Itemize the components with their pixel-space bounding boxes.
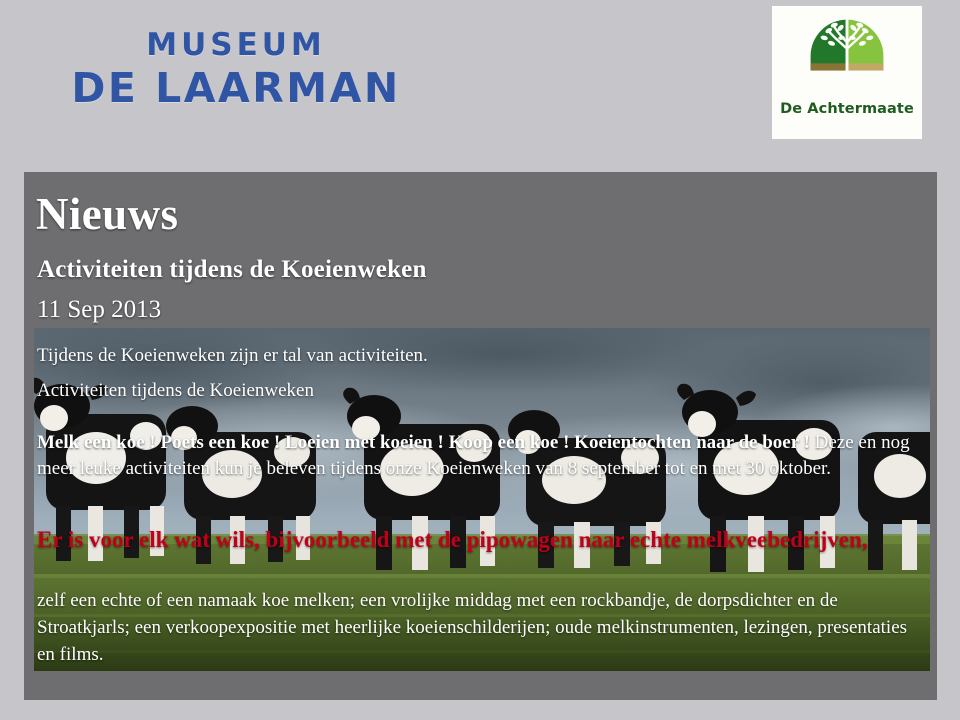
highlight-paragraph: Er is voor elk wat wils, bijvoorbeeld me…	[37, 523, 897, 557]
activities-bold-text: Melk een koe ! Poets een koe ! Loeien me…	[37, 432, 810, 453]
partner-logo-label: De Achtermaate	[780, 101, 914, 117]
partner-logo-box: De Achtermaate	[772, 6, 922, 139]
details-paragraph: zelf een echte of een namaak koe melken;…	[37, 587, 921, 668]
news-text-layer: Nieuws Activiteiten tijdens de Koeienwek…	[24, 172, 937, 700]
news-section-heading: Activiteiten tijdens de Koeienweken	[37, 380, 314, 402]
museum-logo-line-2: DE LAARMAN	[36, 68, 436, 109]
news-panel: Nieuws Activiteiten tijdens de Koeienwek…	[24, 172, 937, 700]
news-intro-line: Tijdens de Koeienweken zijn er tal van a…	[37, 345, 428, 367]
page-header: MUSEUM DE LAARMAN	[0, 0, 960, 160]
museum-logo-line-1: MUSEUM	[36, 30, 436, 61]
tree-circle-icon	[801, 16, 893, 98]
news-subtitle: Activiteiten tijdens de Koeienweken	[37, 256, 427, 284]
news-date: 11 Sep 2013	[37, 296, 161, 324]
museum-de-laarman-logo: MUSEUM DE LAARMAN	[36, 30, 436, 109]
page-title: Nieuws	[36, 188, 178, 240]
activities-paragraph: Melk een koe ! Poets een koe ! Loeien me…	[37, 430, 921, 482]
